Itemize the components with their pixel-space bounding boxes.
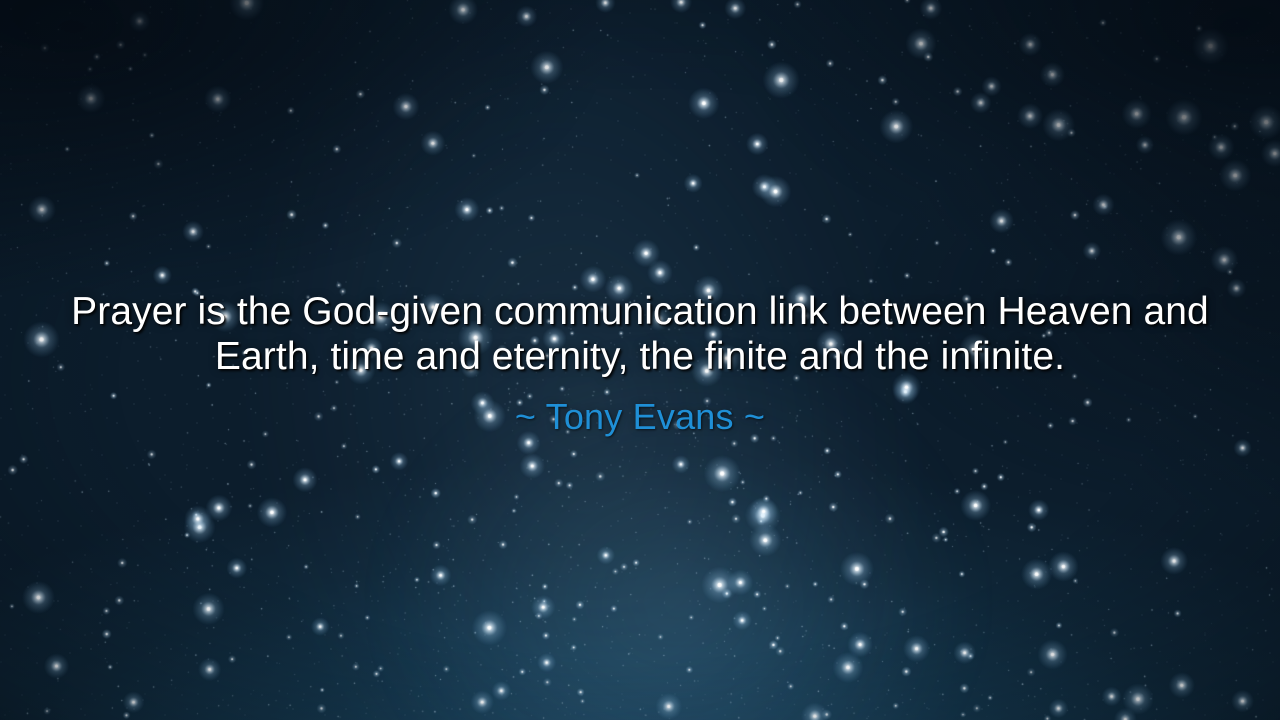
quote-image-stage: Prayer is the God-given communication li…: [0, 0, 1280, 720]
quote-attribution: ~ Tony Evans ~: [44, 396, 1236, 438]
quote-text: Prayer is the God-given communication li…: [44, 289, 1236, 379]
quote-block: Prayer is the God-given communication li…: [0, 289, 1280, 438]
